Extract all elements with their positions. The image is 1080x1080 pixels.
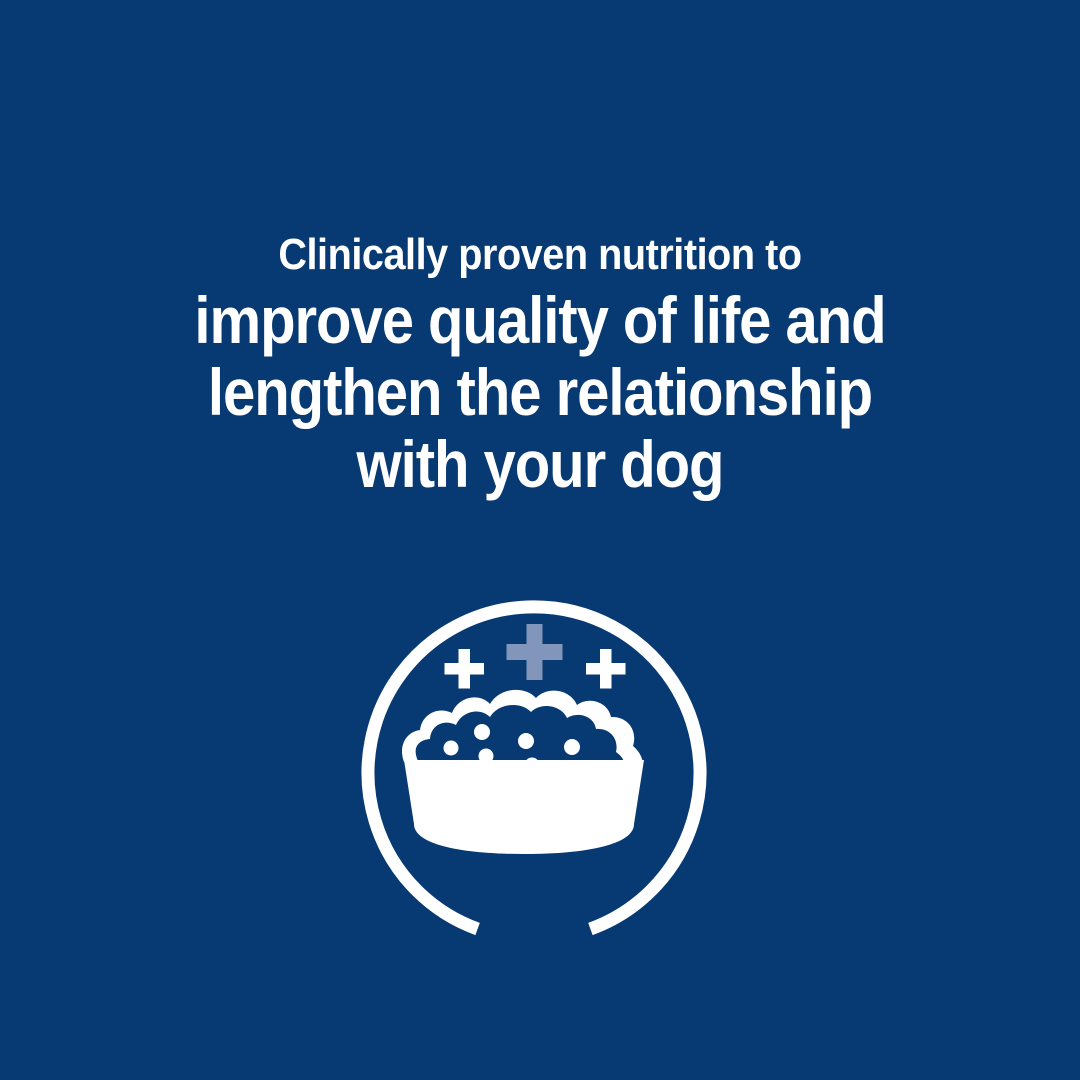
kibble-dot bbox=[444, 741, 459, 756]
plus-left-icon bbox=[445, 649, 485, 689]
headline-lead-line: Clinically proven nutrition to bbox=[54, 228, 1026, 282]
plus-center-icon bbox=[507, 624, 563, 680]
food-bowl-icon bbox=[404, 760, 644, 854]
plus-right-icon bbox=[586, 649, 626, 689]
kibble-dot bbox=[518, 733, 534, 749]
kibble-dot bbox=[564, 739, 580, 755]
headline-emphasis-line-2: lengthen the relationship bbox=[65, 356, 1015, 428]
headline-block: Clinically proven nutrition to improve q… bbox=[0, 228, 1080, 500]
dog-food-bowl-in-circle-icon bbox=[346, 566, 722, 942]
promo-poster: Clinically proven nutrition to improve q… bbox=[0, 0, 1080, 1080]
headline-emphasis-line-3: with your dog bbox=[65, 428, 1015, 500]
kibble-dot bbox=[474, 724, 490, 740]
headline-emphasis-line-1: improve quality of life and bbox=[65, 284, 1015, 356]
